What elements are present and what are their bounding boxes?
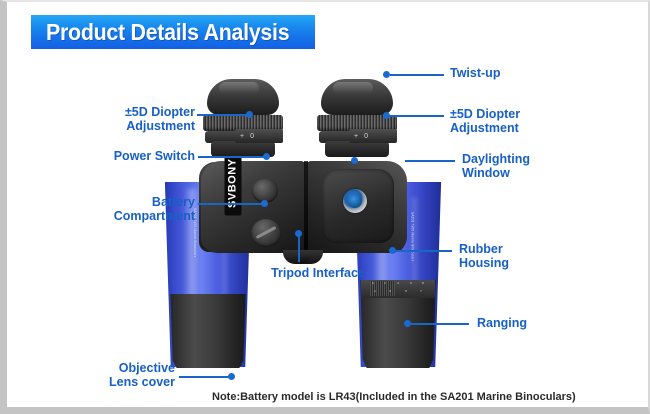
ranging-tick: 1 (374, 289, 376, 293)
diopter-mark-plus: + (240, 133, 244, 140)
leader-line-objective-cover (179, 376, 231, 378)
ranging-tick: 6 (410, 281, 412, 285)
label-objective-lens-cover: Objective Lens cover (59, 361, 175, 389)
leader-line-power-switch (198, 156, 266, 158)
diopter-mark-plus: + (354, 133, 358, 140)
label-power-switch: Power Switch (69, 149, 195, 163)
diopter-mark-zero: 0 (250, 133, 254, 140)
daylighting-window-element (343, 189, 367, 213)
label-ranging: Ranging (477, 316, 627, 330)
leader-line-twist-up (390, 74, 444, 76)
label-diopter-adjustment-left: ±5D Diopter Adjustment (69, 105, 195, 133)
body-hinge-seam (304, 161, 308, 253)
title-banner: Product Details Analysis (31, 15, 315, 49)
label-twist-up: Twist-up (450, 66, 600, 80)
leader-line-battery (198, 203, 264, 205)
brand-name: SVBONY (227, 159, 239, 208)
diopter-mark-zero: 0 (364, 133, 368, 140)
tripod-interface-nub (283, 250, 323, 264)
leader-line-diopter-right (390, 115, 444, 117)
marker-dot-rubber-housing (389, 247, 396, 254)
label-battery-compartment: Battery Compartment (49, 195, 195, 223)
page-title: Product Details Analysis (46, 19, 289, 46)
ranging-tick: 4 (397, 281, 399, 285)
marker-dot-diopter-right (383, 112, 390, 119)
ranging-tick: 0 (372, 281, 374, 285)
marker-dot-tripod-interface (295, 230, 302, 237)
footer-note: Note:Battery model is LR43(Included in t… (212, 391, 576, 403)
product-details-page: Product Details Analysis SA201 7x50 Mari… (0, 0, 650, 414)
marker-dot-daylighting (351, 157, 358, 164)
left-eyecup: + 0 (201, 79, 285, 165)
label-rubber-housing: Rubber Housing (459, 242, 609, 270)
ranging-tick: 2 (384, 281, 386, 285)
right-eyecup: + 0 (315, 79, 399, 165)
marker-dot-diopter-left (246, 111, 253, 118)
battery-compartment-cap[interactable] (251, 219, 281, 247)
marker-dot-twist-up (383, 71, 390, 78)
left-eyecup-rubber (207, 79, 279, 115)
daylighting-window-lens (348, 194, 362, 208)
leader-line-rubber-housing (396, 250, 452, 252)
ranging-ticks-top: 0 2 4 6 8 (361, 281, 435, 285)
right-barrel-side-text: SA201 7x50 Marine Binoculars (410, 212, 414, 261)
marker-dot-objective-cover (228, 373, 235, 380)
ranging-tick: 5 (405, 289, 407, 293)
leader-line-ranging (411, 323, 469, 325)
binoculars-product-image: SA201 7x50 Marine Binoculars SA201 7x50 … (157, 57, 487, 387)
ranging-ticks-bottom: 1 3 5 7 (361, 289, 435, 293)
marker-dot-power-switch (263, 153, 270, 160)
label-daylighting-window: Daylighting Window (462, 152, 612, 180)
label-tripod-interface: Tripod Interface (253, 266, 383, 280)
objective-lens-cover-left (159, 294, 257, 368)
right-eyecup-base (325, 141, 389, 157)
right-diopter-scale: + 0 (349, 129, 397, 143)
ranging-scale-ring: 0 2 4 6 8 1 3 5 7 (361, 280, 435, 298)
leader-line-diopter-left (197, 114, 249, 116)
label-diopter-adjustment-right: ±5D Diopter Adjustment (450, 107, 600, 135)
ranging-tick: 8 (423, 281, 425, 285)
marker-dot-ranging (404, 320, 411, 327)
ranging-tick: 7 (420, 289, 422, 293)
left-diopter-scale: + 0 (235, 129, 283, 143)
ranging-tick: 3 (389, 289, 391, 293)
marker-dot-battery (261, 200, 268, 207)
leader-line-tripod-interface (298, 234, 300, 262)
right-eyecup-rubber (321, 79, 393, 115)
diagram-canvas: Product Details Analysis SA201 7x50 Mari… (7, 2, 648, 407)
leader-line-daylighting (405, 160, 455, 162)
